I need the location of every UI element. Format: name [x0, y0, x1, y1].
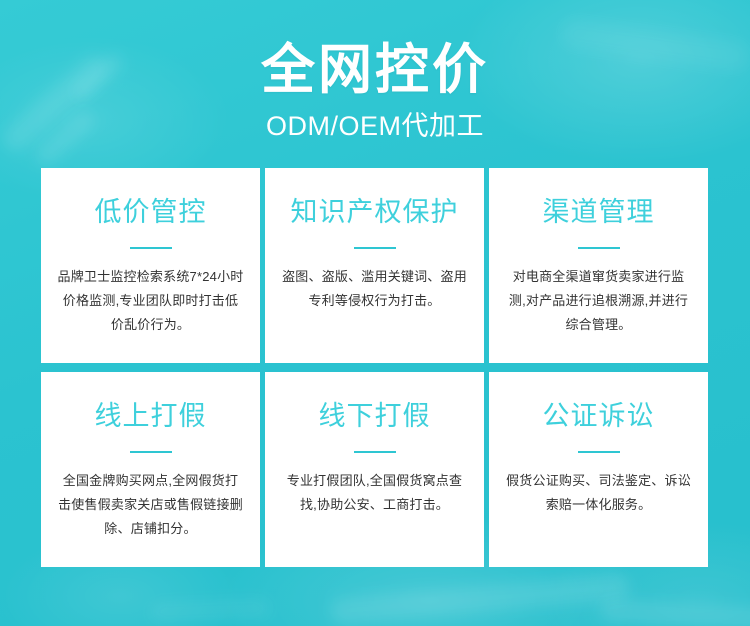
card-title: 公证诉讼 — [543, 372, 655, 432]
card-body: 对电商全渠道窜货卖家进行监测,对产品进行追根溯源,并进行综合管理。 — [505, 249, 692, 337]
feature-card-ip-protection[interactable]: 知识产权保护 盗图、盗版、滥用关键词、盗用专利等侵权行为打击。 — [265, 168, 484, 363]
card-title: 知识产权保护 — [291, 168, 459, 228]
card-body: 品牌卫士监控检索系统7*24小时价格监测,专业团队即时打击低价乱价行为。 — [57, 249, 244, 337]
card-body: 全国金牌购买网点,全网假货打击使售假卖家关店或售假链接删除、店铺扣分。 — [57, 453, 244, 541]
feature-card-grid: 低价管控 品牌卫士监控检索系统7*24小时价格监测,专业团队即时打击低价乱价行为… — [41, 168, 708, 576]
card-title: 低价管控 — [95, 168, 207, 228]
feature-card-low-price-control[interactable]: 低价管控 品牌卫士监控检索系统7*24小时价格监测,专业团队即时打击低价乱价行为… — [41, 168, 260, 363]
card-body: 盗图、盗版、滥用关键词、盗用专利等侵权行为打击。 — [281, 249, 468, 313]
background-highlight-streak — [150, 598, 271, 622]
feature-card-offline-anti-counterfeiting[interactable]: 线下打假 专业打假团队,全国假货窝点查找,协助公安、工商打击。 — [265, 372, 484, 567]
banner-header: 全网控价 ODM/OEM代加工 — [0, 0, 750, 142]
feature-card-online-anti-counterfeiting[interactable]: 线上打假 全国金牌购买网点,全网假货打击使售假卖家关店或售假链接删除、店铺扣分。 — [41, 372, 260, 567]
card-body: 假货公证购买、司法鉴定、诉讼索赔一体化服务。 — [505, 453, 692, 517]
card-title: 线上打假 — [95, 372, 207, 432]
card-title: 渠道管理 — [543, 168, 655, 228]
page-subtitle: ODM/OEM代加工 — [0, 99, 750, 142]
card-body: 专业打假团队,全国假货窝点查找,协助公安、工商打击。 — [281, 453, 468, 517]
feature-card-channel-management[interactable]: 渠道管理 对电商全渠道窜货卖家进行监测,对产品进行追根溯源,并进行综合管理。 — [489, 168, 708, 363]
card-title: 线下打假 — [319, 372, 431, 432]
promo-banner-page: 全网控价 ODM/OEM代加工 低价管控 品牌卫士监控检索系统7*24小时价格监… — [0, 0, 750, 626]
page-title: 全网控价 — [0, 0, 750, 99]
feature-card-notarization-litigation[interactable]: 公证诉讼 假货公证购买、司法鉴定、诉讼索赔一体化服务。 — [489, 372, 708, 567]
